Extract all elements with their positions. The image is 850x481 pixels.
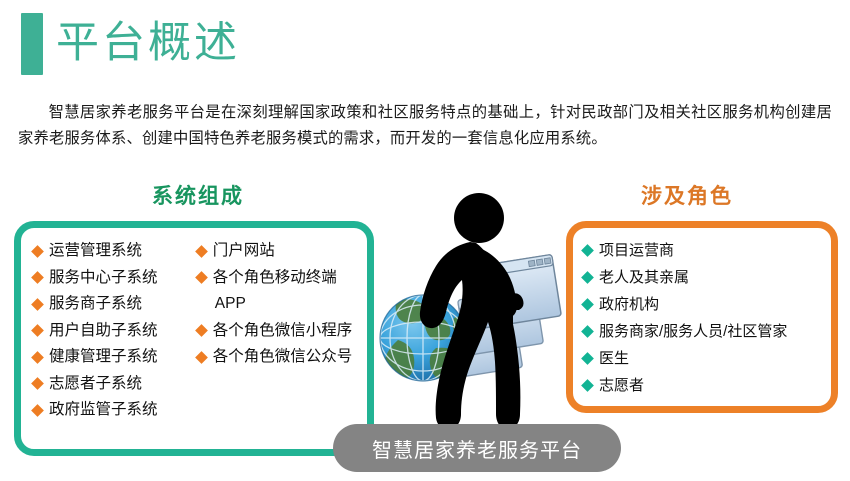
list-item: 健康管理子系统 [29,344,187,371]
list-item: 医生 [579,345,827,372]
list-item-label: 政府机构 [599,291,659,318]
list-item-label: 健康管理子系统 [49,344,158,371]
diamond-bullet-icon [31,377,44,390]
diamond-bullet-icon [581,325,594,338]
list-item-label: 运营管理系统 [49,238,142,265]
list-item-label: 各个角色移动终端 [213,265,337,292]
list-item-label: 各个角色微信公众号 [213,344,353,371]
list-item-label: APP [215,291,246,318]
diamond-bullet-icon [31,298,44,311]
list-item: 服务商家/服务人员/社区管家 [579,318,827,345]
list-item-label: 门户网站 [213,238,275,265]
slide-canvas: 平台概述 智慧居家养老服务平台是在深刻理解国家政策和社区服务特点的基础上，针对民… [0,0,850,481]
diamond-bullet-icon [581,271,594,284]
list-item-label: 志愿者子系统 [49,371,142,398]
list-item: 服务中心子系统 [29,265,187,292]
list-item: 志愿者 [579,372,827,399]
diamond-bullet-icon [195,245,208,258]
elderly-person-illustration [378,190,563,435]
system-composition-columns: 运营管理系统 服务中心子系统 服务商子系统 用户自助子系统 健康管理子系统 [21,228,367,449]
list-item-label: 服务中心子系统 [49,265,158,292]
elderly-person-silhouette [420,193,524,434]
list-item: 政府监管子系统 [29,397,187,424]
list-item: 各个角色微信公众号 [193,344,363,371]
diamond-bullet-icon [31,245,44,258]
diamond-bullet-icon [195,271,208,284]
list-item-label: 服务商子系统 [49,291,142,318]
list-item: 志愿者子系统 [29,371,187,398]
list-item: 门户网站 [193,238,363,265]
diamond-bullet-icon [581,298,594,311]
right-panel-heading: 涉及角色 [641,180,733,210]
list-item: 运营管理系统 [29,238,187,265]
involved-roles-list: 项目运营商 老人及其亲属 政府机构 服务商家/服务人员/社区管家 医生 志愿者 [573,228,831,406]
list-item: 用户自助子系统 [29,318,187,345]
list-item: 各个角色微信小程序 [193,318,363,345]
diamond-bullet-icon [31,271,44,284]
diamond-bullet-icon [31,324,44,337]
list-item-label: 各个角色微信小程序 [213,318,353,345]
list-item: 服务商子系统 [29,291,187,318]
involved-roles-panel: 项目运营商 老人及其亲属 政府机构 服务商家/服务人员/社区管家 医生 志愿者 [566,221,838,413]
list-item-label: 医生 [599,345,629,372]
system-composition-column-a: 运营管理系统 服务中心子系统 服务商子系统 用户自助子系统 健康管理子系统 [29,238,187,449]
list-item-continuation: APP [193,291,363,318]
diamond-bullet-icon [581,379,594,392]
page-title: 平台概述 [56,12,240,74]
left-panel-heading: 系统组成 [152,180,244,210]
list-item: 项目运营商 [579,237,827,264]
list-item-label: 用户自助子系统 [49,318,158,345]
diamond-bullet-icon [581,352,594,365]
list-item: 老人及其亲属 [579,264,827,291]
diamond-bullet-icon [581,244,594,257]
platform-name-pill: 智慧居家养老服务平台 [333,424,621,472]
system-composition-panel: 运营管理系统 服务中心子系统 服务商子系统 用户自助子系统 健康管理子系统 [14,221,374,456]
list-item-label: 老人及其亲属 [599,264,689,291]
diamond-bullet-icon [195,324,208,337]
diamond-bullet-icon [31,404,44,417]
list-item-label: 政府监管子系统 [49,397,158,424]
system-composition-column-b: 门户网站 各个角色移动终端 APP 各个角色微信小程序 各个角色微信公众号 [193,238,363,449]
title-accent-bar [21,13,43,75]
list-item: 各个角色移动终端 [193,265,363,292]
list-item-label: 服务商家/服务人员/社区管家 [599,318,787,345]
list-item-label: 志愿者 [599,372,644,399]
list-item: 政府机构 [579,291,827,318]
list-item-label: 项目运营商 [599,237,674,264]
diamond-bullet-icon [195,351,208,364]
diamond-bullet-icon [31,351,44,364]
intro-paragraph: 智慧居家养老服务平台是在深刻理解国家政策和社区服务特点的基础上，针对民政部门及相… [18,100,832,152]
